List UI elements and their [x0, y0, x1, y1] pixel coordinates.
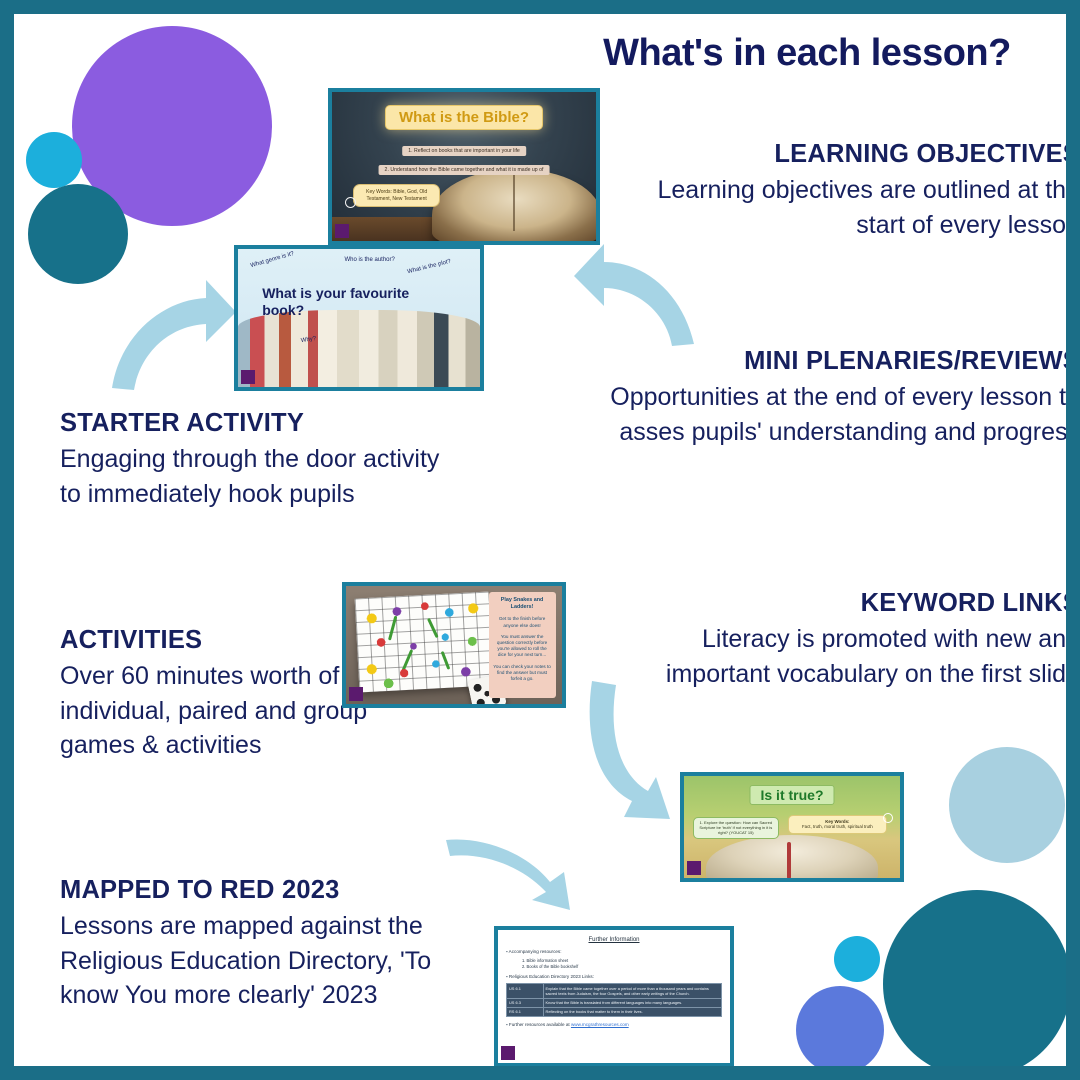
slide-objective-1: 1. Explore the question: How can Sacred …: [693, 817, 779, 840]
section-keyword-links: KEYWORD LINKS Literacy is promoted with …: [614, 589, 1066, 691]
slide-background: Play Snakes and Ladders! Get to the fini…: [346, 586, 562, 704]
decorative-circle-periwinkle: [796, 986, 884, 1066]
slide-thumbnail-is-it-true[interactable]: Is it true? 1. Explore the question: How…: [680, 772, 904, 882]
slide-objective-1: 1. Reflect on books that are important i…: [402, 146, 526, 156]
slide-title: Further Information: [506, 937, 722, 943]
snake-icon: [388, 616, 397, 640]
annotation-genre: What genre is it?: [250, 251, 295, 270]
key-words-list: Fact, truth, moral truth, spiritual trut…: [792, 824, 883, 830]
section-heading: KEYWORD LINKS: [614, 589, 1066, 618]
further-resources-link[interactable]: www.mcgrathresources.com: [571, 1022, 629, 1027]
table-cell-description: Know that the Bible is translated from d…: [543, 998, 721, 1007]
table-cell-code: US 6.1: [507, 984, 544, 998]
section-heading: MINI PLENARIES/REVIEWS: [586, 347, 1066, 376]
bullet-accompanying-resources: Accompanying resources:: [506, 949, 722, 955]
decorative-circle-cyan-bottom: [834, 936, 880, 982]
section-heading: LEARNING OBJECTIVES: [610, 140, 1066, 169]
table-row: US 6.1Explain that the Bible came togeth…: [507, 984, 722, 998]
publisher-logo: [241, 370, 255, 384]
slide-title: Is it true?: [749, 785, 834, 805]
bullet-further-resources: Further resources available at www.mcgra…: [506, 1022, 722, 1028]
table-cell-code: RS 6.1: [507, 1007, 544, 1016]
snake-icon: [427, 618, 438, 638]
table-cell-description: Reflecting on the books that matter to t…: [543, 1007, 721, 1016]
section-learning-objectives: LEARNING OBJECTIVES Learning objectives …: [610, 140, 1066, 242]
instructions-panel: Play Snakes and Ladders! Get to the fini…: [489, 592, 556, 698]
slide-key-words: Key Words: Fact, truth, moral truth, spi…: [788, 815, 887, 834]
panel-line-2: You must answer the question correctly b…: [493, 634, 552, 659]
decorative-circle-teal-bottom: [883, 890, 1066, 1066]
decorative-circle-teal-top: [28, 184, 128, 284]
slide-background: Further Information Accompanying resourc…: [498, 930, 730, 1063]
table-cell-code: US 6.3: [507, 998, 544, 1007]
table-cell-description: Explain that the Bible came together ove…: [543, 984, 721, 998]
books-photo: [238, 310, 480, 387]
slide-thumbnail-further-information[interactable]: Further Information Accompanying resourc…: [494, 926, 734, 1066]
publisher-logo: [349, 687, 363, 701]
section-body: Literacy is promoted with new and import…: [614, 622, 1066, 691]
red-links-table: US 6.1Explain that the Bible came togeth…: [506, 983, 722, 1017]
section-body: Engaging through the door activity to im…: [60, 442, 460, 511]
poster-canvas: What's in each lesson? LEARNING OBJECTIV…: [14, 14, 1066, 1066]
slide-key-words: Key Words: Bible, God, Old Testament, Ne…: [353, 184, 440, 207]
panel-heading: Play Snakes and Ladders!: [493, 597, 552, 612]
snakes-and-ladders-board: [354, 592, 493, 693]
annotation-plot: What is the plot?: [407, 259, 452, 277]
page-title: What's in each lesson?: [534, 32, 1066, 75]
snake-icon: [402, 649, 414, 671]
infographic-poster: What's in each lesson? LEARNING OBJECTIV…: [0, 0, 1080, 1080]
slide-background: What is your favourite book? What genre …: [238, 249, 480, 387]
section-heading: MAPPED TO RED 2023: [60, 876, 480, 905]
section-mini-plenaries: MINI PLENARIES/REVIEWS Opportunities at …: [586, 347, 1066, 449]
slide-background: Is it true? 1. Explore the question: How…: [684, 776, 900, 878]
slide-thumbnail-favourite-book[interactable]: What is your favourite book? What genre …: [234, 245, 484, 391]
table-row: US 6.3Know that the Bible is translated …: [507, 998, 722, 1007]
arrow-to-starter-activity: [110, 272, 240, 392]
section-body: Lessons are mapped against the Religious…: [60, 909, 480, 1013]
section-mapped-red-2023: MAPPED TO RED 2023 Lessons are mapped ag…: [60, 876, 480, 1013]
arrow-to-keyword-links: [584, 679, 694, 829]
sub-item-2: 2. Books of the Bible bookshelf: [522, 964, 722, 970]
slide-objective-2: 2. Understand how the Bible came togethe…: [379, 165, 550, 175]
publisher-logo: [335, 224, 349, 238]
panel-line-1: Get to the finish before anyone else doe…: [493, 616, 552, 628]
decorative-circle-cyan-top: [26, 132, 82, 188]
slide-title: What is the Bible?: [385, 105, 543, 130]
slide-background: What is the Bible? 1. Reflect on books t…: [332, 92, 596, 241]
section-body: Learning objectives are outlined at the …: [610, 173, 1066, 242]
slide-title: What is your favourite book?: [262, 285, 436, 319]
arrow-to-learning-objectives: [570, 240, 696, 350]
slide-thumbnail-snakes-and-ladders[interactable]: Play Snakes and Ladders! Get to the fini…: [342, 582, 566, 708]
decorative-circle-lightblue: [949, 747, 1065, 863]
annotation-author: Who is the author?: [344, 257, 394, 264]
table-row: RS 6.1Reflecting on the books that matte…: [507, 1007, 722, 1016]
slide-thumbnail-what-is-the-bible[interactable]: What is the Bible? 1. Reflect on books t…: [328, 88, 600, 245]
section-body: Opportunities at the end of every lesson…: [586, 380, 1066, 449]
snake-icon: [440, 651, 450, 670]
open-bible-photo: [706, 835, 879, 882]
publisher-logo: [687, 861, 701, 875]
publisher-logo: [501, 1046, 515, 1060]
bullet-red-links: Religious Education Directory 2023 Links…: [506, 974, 722, 980]
section-heading: STARTER ACTIVITY: [60, 409, 460, 438]
open-bible-photo: [432, 169, 600, 244]
section-starter-activity: STARTER ACTIVITY Engaging through the do…: [60, 409, 460, 511]
panel-line-3: You can check your notes to find the ans…: [493, 664, 552, 683]
further-resources-text: Further resources available at: [509, 1022, 571, 1027]
